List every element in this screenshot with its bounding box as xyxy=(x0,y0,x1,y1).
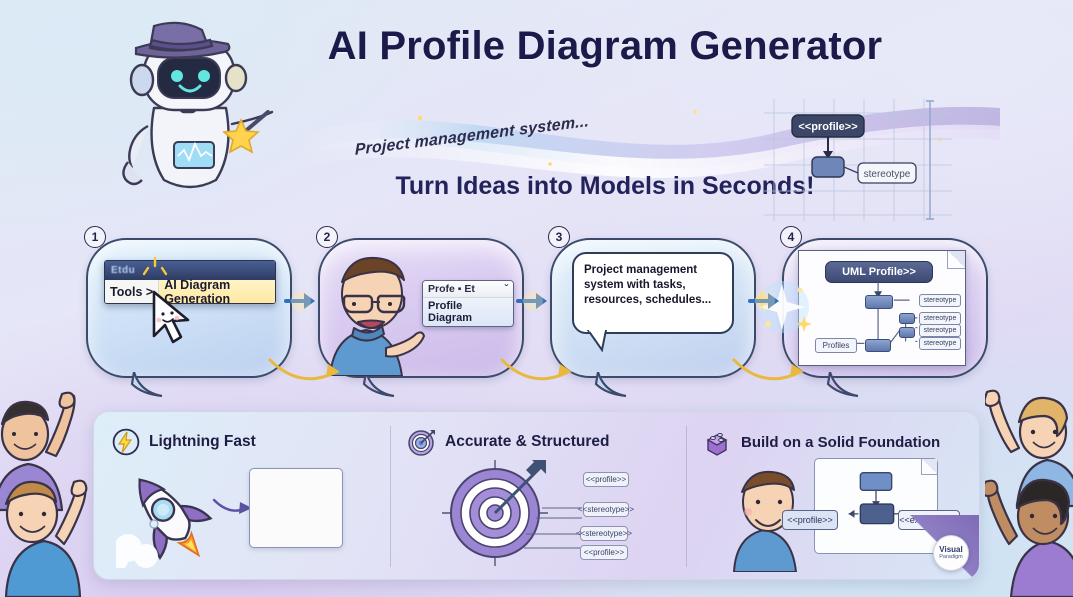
feature-2-leader-lines xyxy=(490,472,590,564)
feature-1-header: Lightning Fast xyxy=(112,428,256,456)
step-3-number: 3 xyxy=(548,226,570,248)
feature-2-title: Accurate & Structured xyxy=(445,433,610,451)
brand-logo-line1: Visual xyxy=(939,546,962,554)
menu-title-label: Etdu xyxy=(111,265,135,276)
step-4-number: 4 xyxy=(780,226,802,248)
diagram-stereotype-4: stereotype xyxy=(919,337,961,350)
diagram-node-mid2 xyxy=(899,327,915,338)
prompt-text-bubble: Project management system with tasks, re… xyxy=(572,252,734,334)
diagram-node-mid xyxy=(899,313,915,324)
step-4[interactable]: 4 UML Profile>> Profiles stereotyp xyxy=(782,238,988,378)
header-profile-label: <<profile>> xyxy=(798,121,857,133)
step-curl-arrow-3 xyxy=(730,350,810,390)
diagram-type-dropdown[interactable]: Profe ▪ Et ˇ Profile Diagram xyxy=(422,280,514,327)
generated-diagram-document: UML Profile>> Profiles stereotype stereo… xyxy=(798,250,966,366)
step-curl-arrow-1 xyxy=(266,350,346,390)
prompt-bubble-tail xyxy=(586,330,616,352)
dropdown-selected-value: Profe ▪ Et xyxy=(428,283,475,295)
brand-logo-line2: Paradigm xyxy=(939,554,963,560)
diagram-node-profiles: Profiles xyxy=(815,338,857,353)
feature-2-header: Accurate & Structured xyxy=(408,428,610,456)
step-arrow-1 xyxy=(284,290,318,312)
feature-3-title: Build on a Solid Foundation xyxy=(741,434,940,451)
rocket-illustration xyxy=(116,464,220,568)
features-panel: Lightning Fast xyxy=(93,411,980,580)
dropdown-selected-row[interactable]: Profe ▪ Et ˇ xyxy=(423,281,513,298)
step-1-bubble-tail xyxy=(130,372,170,398)
target-icon xyxy=(408,428,436,456)
feature-lightning-fast: Lightning Fast xyxy=(94,412,390,579)
steps-row: 1 Etdu Tools > AI Diagram Generation xyxy=(70,222,1010,382)
feature-3-header: Build on a Solid Foundation xyxy=(704,428,940,456)
step-3[interactable]: 3 Project management system with tasks, … xyxy=(550,238,756,378)
step-2-number: 2 xyxy=(316,226,338,248)
sparkle-icon xyxy=(142,254,168,280)
brand-logo: Visual Paradigm xyxy=(933,535,969,571)
feature-solid-foundation: Build on a Solid Foundation xyxy=(686,412,980,579)
chevron-down-icon[interactable]: ˇ xyxy=(505,283,509,295)
step-1[interactable]: 1 Etdu Tools > AI Diagram Generation xyxy=(86,238,292,378)
dropdown-option-profile-diagram[interactable]: Profile Diagram xyxy=(423,298,513,326)
step-3-bubble-tail xyxy=(594,372,634,398)
step-arrow-3 xyxy=(748,290,782,312)
feature-3-label-profile: <<profile>> xyxy=(782,510,838,530)
cheering-people-left xyxy=(0,390,104,597)
step-1-number: 1 xyxy=(84,226,106,248)
header-stereotype-label: stereotype xyxy=(864,169,911,180)
poster-canvas: AI Profile Diagram Generator Project man… xyxy=(0,0,1073,597)
lego-brick-icon xyxy=(704,428,732,456)
page-title: AI Profile Diagram Generator xyxy=(255,24,955,69)
diagram-node-bottom xyxy=(865,339,891,352)
cheering-people-right xyxy=(985,388,1073,597)
step-curl-arrow-2 xyxy=(498,350,578,390)
step-arrow-2 xyxy=(516,290,550,312)
diagram-node-root xyxy=(865,295,893,309)
step-2[interactable]: 2 Profe ▪ Et xyxy=(318,238,524,378)
generated-blank-card xyxy=(249,468,343,548)
diagram-stereotype-1: stereotype xyxy=(919,294,961,307)
step-4-bubble-tail xyxy=(826,372,866,398)
feature-accurate-structured: Accurate & Structured <<profile>> <<ster… xyxy=(390,412,686,579)
header-profile-diagram: <<profile>> stereotype xyxy=(762,95,958,225)
feature-1-title: Lightning Fast xyxy=(149,433,256,451)
smiling-cursor-icon[interactable] xyxy=(148,290,196,348)
lightning-bolt-icon xyxy=(112,428,140,456)
diagram-stereotype-3: stereotype xyxy=(919,324,961,337)
curved-prompt-label: Project management system... xyxy=(355,94,742,160)
